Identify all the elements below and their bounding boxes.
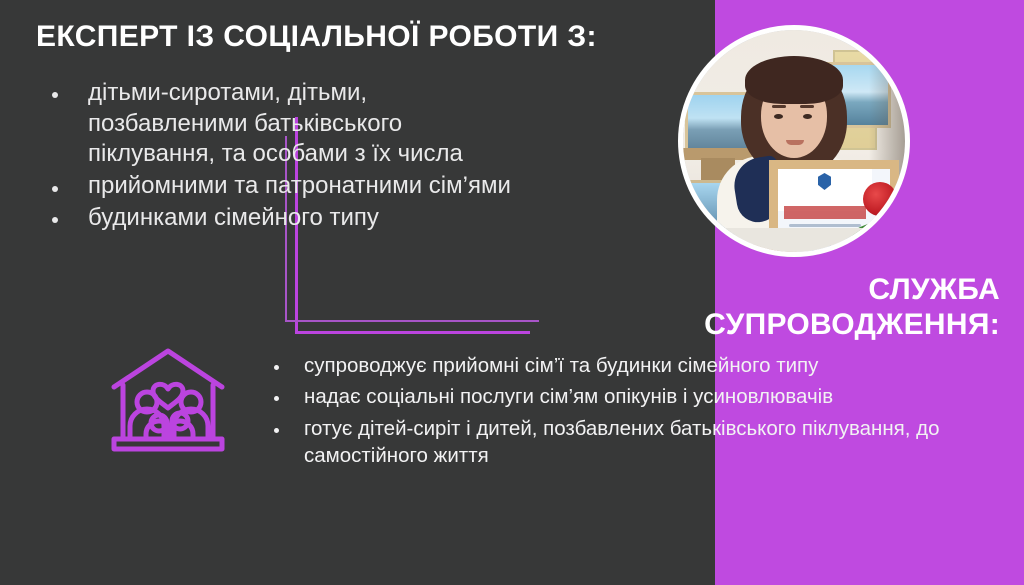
service-title-line-2: СУПРОВОДЖЕННЯ: [480, 307, 1000, 342]
list-item: дітьми-сиротами, дітьми, позбавленими ба… [38, 78, 528, 170]
bullet-dot-icon [52, 217, 58, 223]
list-item: надає соціальні послуги сім’ям опікунів … [262, 383, 1002, 410]
slide-canvas: ЕКСПЕРТ ІЗ СОЦІАЛЬНОЇ РОБОТИ З: дітьми-с… [0, 0, 1024, 585]
house-family-heart-icon [108, 345, 228, 455]
list-item-label: надає соціальні послуги сім’ям опікунів … [304, 385, 833, 408]
avatar [678, 25, 910, 257]
list-item: будинками сімейного типу [38, 203, 528, 234]
bullet-dot-icon [52, 186, 58, 192]
expertise-list: дітьми-сиротами, дітьми, позбавленими ба… [38, 78, 528, 235]
list-item-label: супроводжує прийомні сім’ї та будинки сі… [304, 354, 818, 377]
woman-with-certificate-photo [683, 30, 905, 252]
service-title-line-1: СЛУЖБА [480, 272, 1000, 307]
page-title: ЕКСПЕРТ ІЗ СОЦІАЛЬНОЇ РОБОТИ З: [36, 20, 716, 55]
service-title: СЛУЖБА СУПРОВОДЖЕННЯ: [480, 272, 1000, 343]
list-item: готує дітей-сиріт і дитей, позбавлених б… [262, 415, 1002, 470]
bullet-dot-icon [274, 365, 279, 370]
list-item-label: дітьми-сиротами, дітьми, позбавленими ба… [88, 79, 463, 167]
list-item: супроводжує прийомні сім’ї та будинки сі… [262, 352, 1002, 379]
bullet-dot-icon [274, 396, 279, 401]
bullet-dot-icon [52, 92, 58, 98]
list-item-label: будинками сімейного типу [88, 204, 379, 231]
list-item-label: готує дітей-сиріт і дитей, позбавлених б… [304, 417, 940, 467]
bullet-dot-icon [274, 428, 279, 433]
service-duties-list: супроводжує прийомні сім’ї та будинки сі… [262, 352, 1002, 474]
list-item-label: прийомними та патронатними сім’ями [88, 172, 511, 199]
list-item: прийомними та патронатними сім’ями [38, 171, 528, 202]
